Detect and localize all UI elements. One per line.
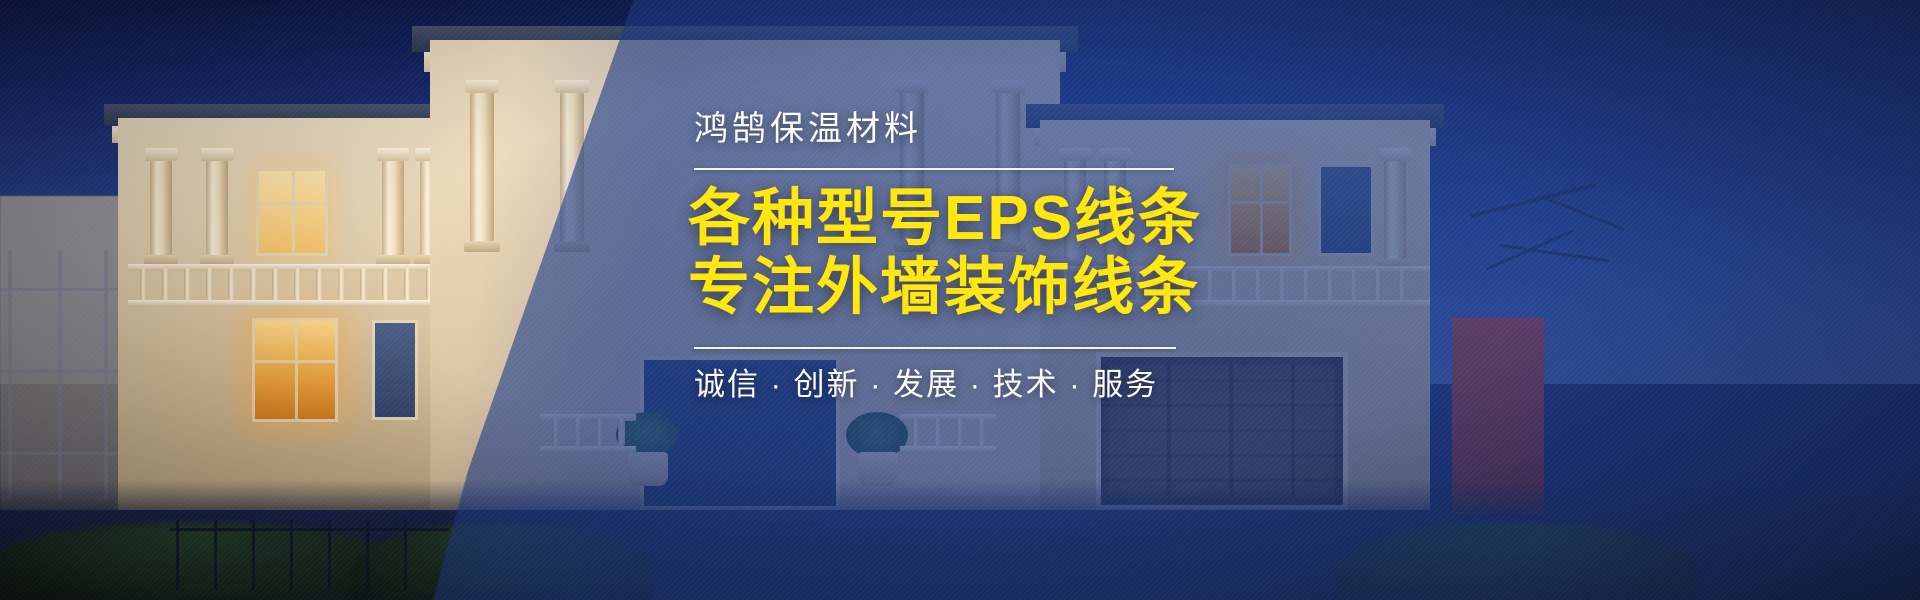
baluster: [316, 268, 323, 300]
banner-text-block: 鸿鹄保温材料 各种型号EPS线条 专注外墙装饰线条 诚信 · 创新 · 发展 ·…: [688, 112, 1328, 400]
scaffold-rail: [0, 288, 126, 291]
baluster: [1398, 270, 1405, 300]
window-lit: [252, 318, 338, 422]
column: [206, 160, 228, 256]
balustrade-rail: [540, 446, 636, 453]
baluster: [140, 268, 147, 300]
baluster: [1350, 270, 1357, 300]
headline-line-2: 专注外墙装饰线条: [688, 253, 1328, 322]
baluster: [618, 418, 625, 446]
fence-rail: [170, 528, 450, 531]
window-mullion: [295, 321, 298, 419]
baluster: [552, 418, 559, 446]
balustrade-rail: [900, 446, 996, 453]
baluster: [956, 418, 963, 446]
scaffold-rail: [0, 370, 126, 373]
column: [382, 160, 404, 256]
baluster: [294, 268, 301, 300]
window-lit: [256, 168, 328, 256]
baluster: [184, 268, 191, 300]
balustrade-rail: [128, 264, 448, 271]
brand-name: 鸿鹄保温材料: [694, 112, 1328, 146]
scaffold-rail: [0, 452, 126, 455]
column: [1384, 160, 1406, 260]
baluster: [250, 268, 257, 300]
divider-bottom: [694, 347, 1176, 349]
column: [150, 160, 172, 256]
promo-banner: 鸿鹄保温材料 各种型号EPS线条 专注外墙装饰线条 诚信 · 创新 · 发展 ·…: [0, 0, 1920, 600]
window-mullion: [292, 171, 295, 253]
baluster: [338, 268, 345, 300]
baluster: [404, 268, 411, 300]
baluster: [382, 268, 389, 300]
baluster: [272, 268, 279, 300]
baluster: [228, 268, 235, 300]
baluster: [360, 268, 367, 300]
window-mullion: [255, 360, 335, 363]
divider-top: [694, 168, 1174, 170]
baluster: [206, 268, 213, 300]
baluster: [162, 268, 169, 300]
baluster: [1374, 270, 1381, 300]
baluster: [574, 418, 581, 446]
headline-line-1: 各种型号EPS线条: [688, 184, 1328, 253]
baluster: [912, 418, 919, 446]
window-mullion: [259, 202, 325, 205]
baluster: [596, 418, 603, 446]
column: [470, 92, 494, 242]
baluster: [978, 418, 985, 446]
tagline: 诚信 · 创新 · 发展 · 技术 · 服务: [694, 369, 1328, 400]
column: [560, 92, 584, 242]
headline: 各种型号EPS线条 专注外墙装饰线条: [688, 184, 1328, 323]
balustrade-rail: [128, 300, 448, 307]
window: [372, 320, 418, 420]
baluster: [934, 418, 941, 446]
